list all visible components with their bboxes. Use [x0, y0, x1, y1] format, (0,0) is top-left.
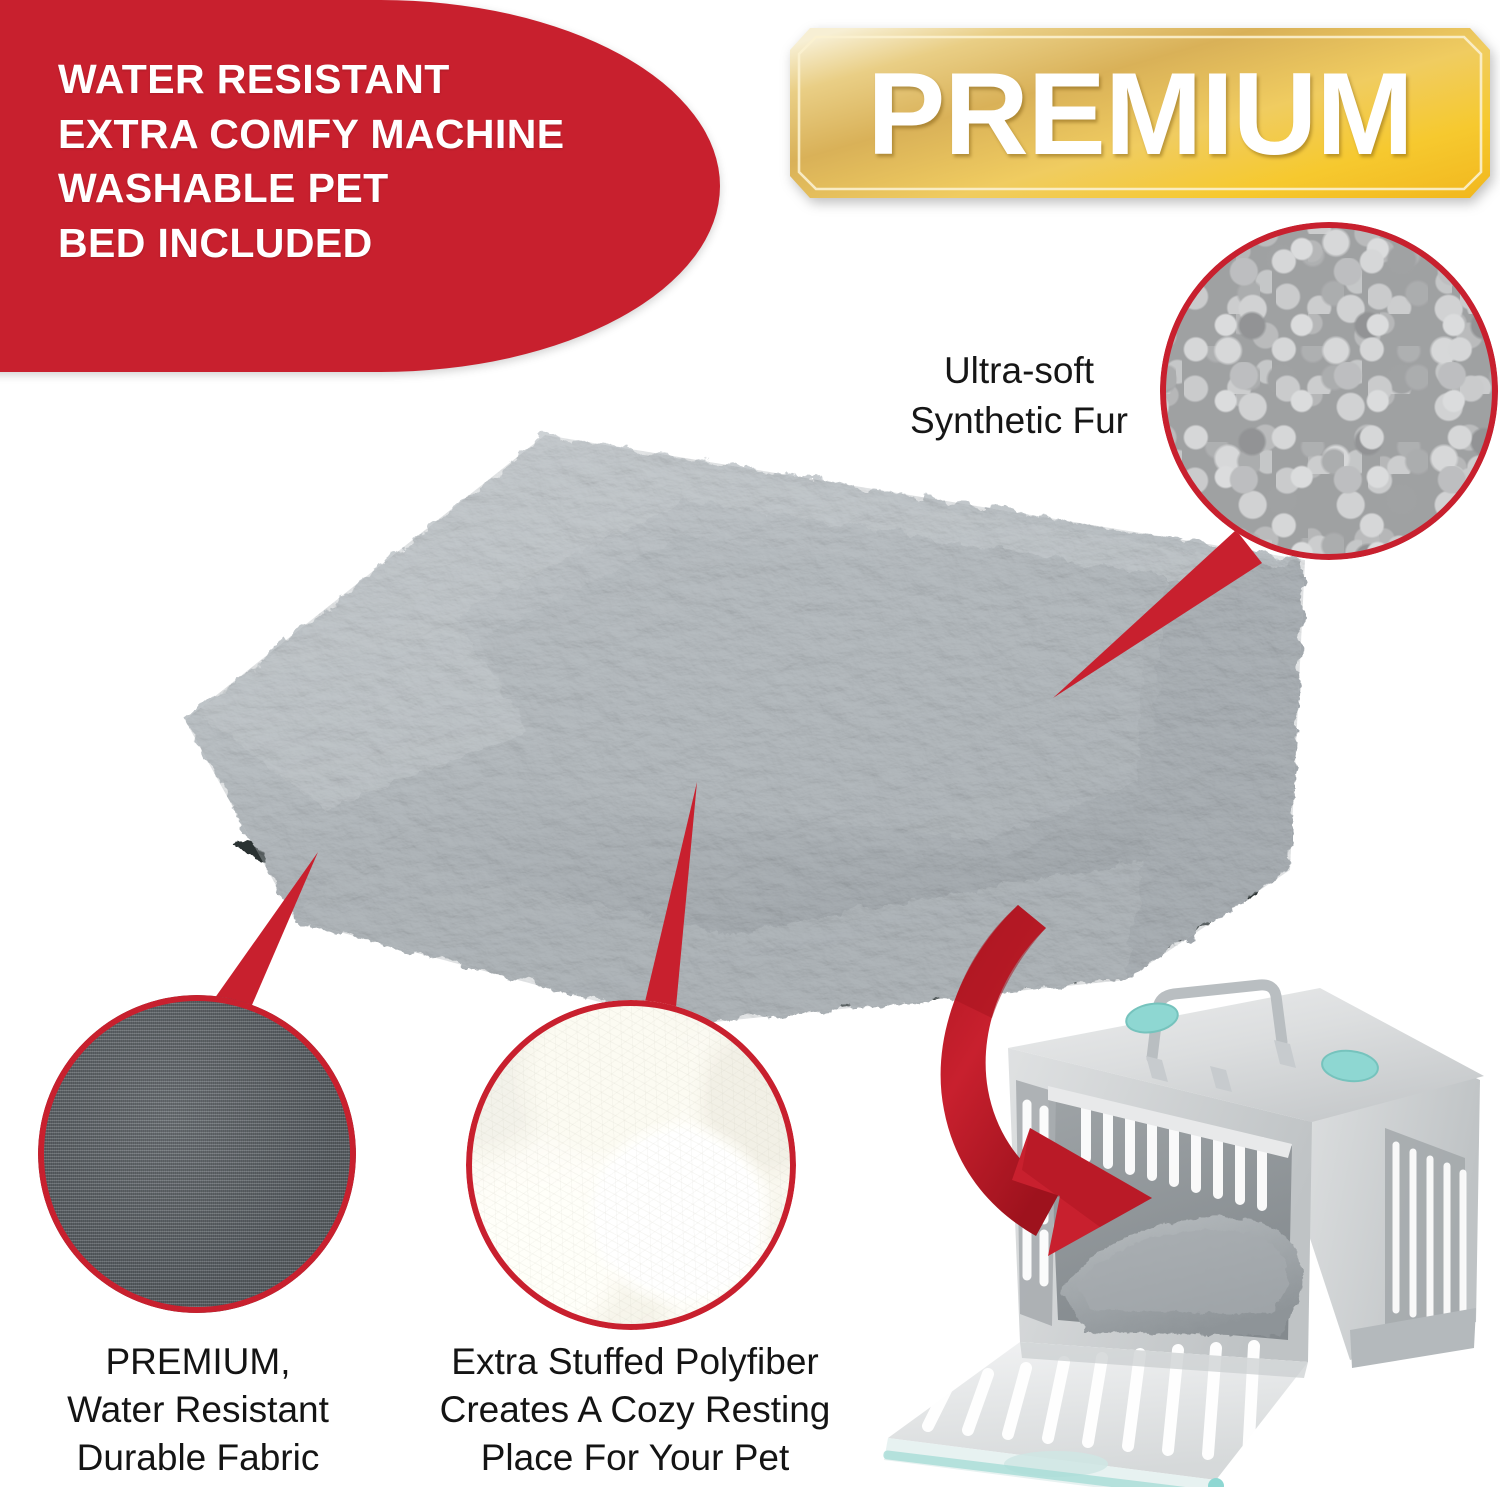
fabric-texture-swatch — [38, 995, 356, 1313]
polyfiber-caption-line-1: Extra Stuffed Polyfiber — [400, 1338, 870, 1386]
fabric-callout-caption: PREMIUM, Water Resistant Durable Fabric — [20, 1338, 376, 1482]
pet-carrier-image — [880, 890, 1500, 1487]
polyfiber-callout-caption: Extra Stuffed Polyfiber Creates A Cozy R… — [400, 1338, 870, 1482]
polyfiber-caption-line-2: Creates A Cozy Resting — [400, 1386, 870, 1434]
infographic-canvas: WATER RESISTANT EXTRA COMFY MACHINE WASH… — [0, 0, 1500, 1487]
fabric-caption-line-2: Water Resistant — [20, 1386, 376, 1434]
headline-banner-text: WATER RESISTANT EXTRA COMFY MACHINE WASH… — [58, 52, 698, 270]
fur-texture-swatch — [1160, 222, 1498, 560]
headline-line-3: WASHABLE PET — [58, 161, 698, 216]
fabric-caption-line-1: PREMIUM, — [20, 1338, 376, 1386]
premium-badge — [790, 28, 1490, 198]
headline-line-1: WATER RESISTANT — [58, 52, 698, 107]
polyfiber-caption-line-3: Place For Your Pet — [400, 1434, 870, 1482]
headline-line-2: EXTRA COMFY MACHINE — [58, 107, 698, 162]
callout-circle-fabric — [38, 995, 356, 1313]
headline-line-4: BED INCLUDED — [58, 216, 698, 271]
fur-label-line-1: Ultra-soft — [885, 346, 1153, 396]
polyfiber-texture-swatch — [466, 1000, 796, 1330]
callout-circle-polyfiber — [466, 1000, 796, 1330]
fur-callout-label: Ultra-soft Synthetic Fur — [885, 346, 1153, 447]
fabric-caption-line-3: Durable Fabric — [20, 1434, 376, 1482]
fur-label-line-2: Synthetic Fur — [885, 396, 1153, 446]
callout-circle-fur — [1160, 222, 1498, 560]
